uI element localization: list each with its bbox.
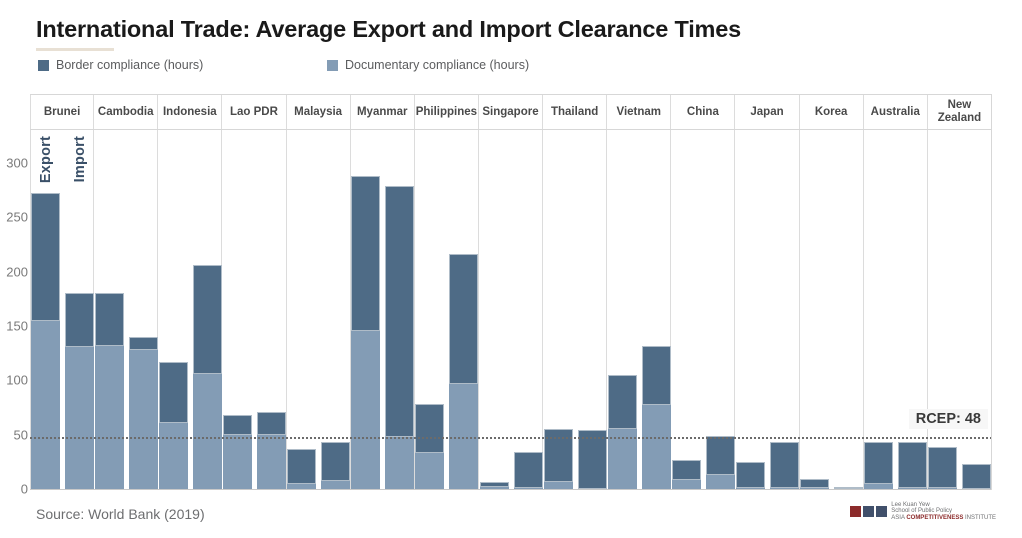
- logo-chevron-icon: [876, 506, 887, 517]
- y-axis-tick-label: 300: [0, 156, 28, 171]
- legend-item-border-compliance[interactable]: Border compliance (hours): [38, 58, 203, 72]
- logo-square-blue-icon: [863, 506, 874, 517]
- y-axis-tick-label: 200: [0, 264, 28, 279]
- legend-swatch-icon: [38, 60, 49, 71]
- y-axis: 050100150200250300: [0, 94, 28, 490]
- legend-label: Border compliance (hours): [56, 58, 203, 72]
- lkyspp-aci-logo: Lee Kuan Yew School of Public Policy ASI…: [850, 502, 996, 521]
- y-axis-tick-label: 100: [0, 373, 28, 388]
- legend-swatch-icon: [327, 60, 338, 71]
- legend-item-documentary-compliance[interactable]: Documentary compliance (hours): [327, 58, 529, 72]
- title-underline-rule: [36, 48, 114, 51]
- y-axis-tick-label: 0: [0, 482, 28, 497]
- y-axis-tick-label: 250: [0, 210, 28, 225]
- y-axis-tick-label: 150: [0, 319, 28, 334]
- chart-root: International Trade: Average Export and …: [0, 0, 1022, 538]
- page-title: International Trade: Average Export and …: [36, 16, 741, 43]
- legend-label: Documentary compliance (hours): [345, 58, 529, 72]
- logo-text: Lee Kuan Yew School of Public Policy ASI…: [891, 502, 996, 521]
- logo-square-red-icon: [850, 506, 861, 517]
- plot-frame: [30, 94, 992, 490]
- source-note: Source: World Bank (2019): [36, 506, 205, 522]
- logo-line-3: ASIA COMPETITIVENESS INSTITUTE: [891, 515, 996, 521]
- y-axis-tick-label: 50: [0, 427, 28, 442]
- logo-marks: [850, 506, 887, 517]
